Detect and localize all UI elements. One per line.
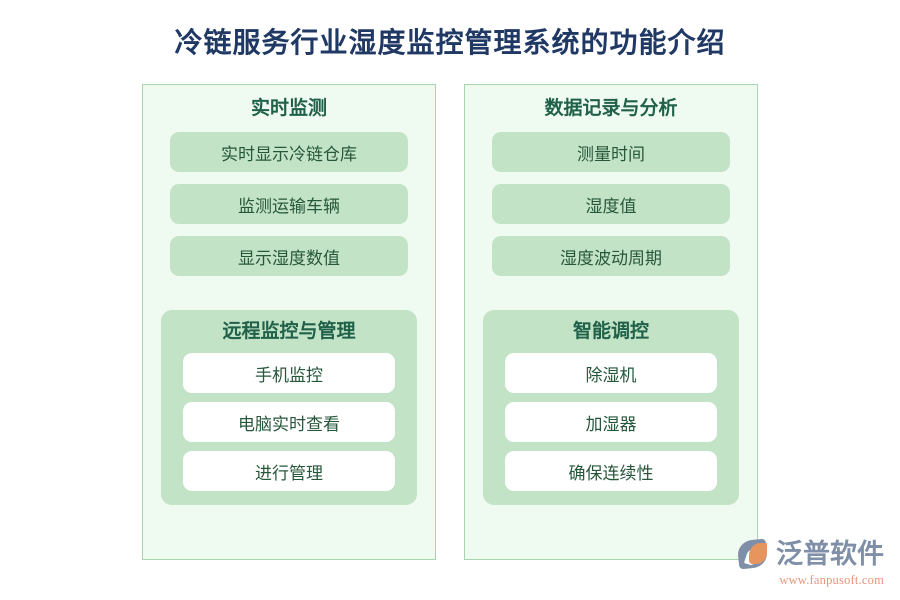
- logo-notch-shape: [744, 549, 759, 567]
- section-title-remote-monitoring-management: 远程监控与管理: [222, 322, 355, 341]
- feature-item[interactable]: 加湿器: [505, 402, 717, 442]
- page-title: 冷链服务行业湿度监控管理系统的功能介绍: [0, 21, 900, 61]
- section-realtime-monitoring: 实时监测 实时显示冷链仓库 监测运输车辆 显示湿度数值: [143, 99, 435, 288]
- logo-url: www.fanpusoft.com: [737, 573, 884, 588]
- feature-item[interactable]: 进行管理: [183, 451, 395, 491]
- feature-item[interactable]: 手机监控: [183, 353, 395, 393]
- section-intelligent-regulation: 智能调控 除湿机 加湿器 确保连续性: [483, 310, 739, 505]
- feature-item[interactable]: 确保连续性: [505, 451, 717, 491]
- feature-item[interactable]: 实时显示冷链仓库: [170, 132, 408, 172]
- logo-brand-cn: 泛普软件: [776, 541, 884, 568]
- feature-columns: 实时监测 实时显示冷链仓库 监测运输车辆 显示湿度数值 远程监控与管理 手机监控…: [142, 84, 758, 560]
- column-left: 实时监测 实时显示冷链仓库 监测运输车辆 显示湿度数值 远程监控与管理 手机监控…: [142, 84, 436, 560]
- feature-item[interactable]: 显示湿度数值: [170, 236, 408, 276]
- section-remote-monitoring-management: 远程监控与管理 手机监控 电脑实时查看 进行管理: [161, 310, 417, 505]
- section-title-intelligent-regulation: 智能调控: [573, 322, 649, 341]
- section-title-data-record-analysis: 数据记录与分析: [544, 99, 677, 118]
- feature-item[interactable]: 湿度值: [492, 184, 730, 224]
- feature-item[interactable]: 除湿机: [505, 353, 717, 393]
- feature-item[interactable]: 湿度波动周期: [492, 236, 730, 276]
- fanpu-logo-icon: [737, 538, 771, 570]
- feature-item[interactable]: 监测运输车辆: [170, 184, 408, 224]
- corner-logo: 泛普软件 www.fanpusoft.com: [737, 538, 884, 588]
- feature-item[interactable]: 电脑实时查看: [183, 402, 395, 442]
- column-right: 数据记录与分析 测量时间 湿度值 湿度波动周期 智能调控 除湿机 加湿器 确保连…: [464, 84, 758, 560]
- section-data-record-analysis: 数据记录与分析 测量时间 湿度值 湿度波动周期: [465, 99, 757, 288]
- section-title-realtime-monitoring: 实时监测: [251, 99, 327, 118]
- feature-item[interactable]: 测量时间: [492, 132, 730, 172]
- logo-row: 泛普软件: [737, 538, 884, 570]
